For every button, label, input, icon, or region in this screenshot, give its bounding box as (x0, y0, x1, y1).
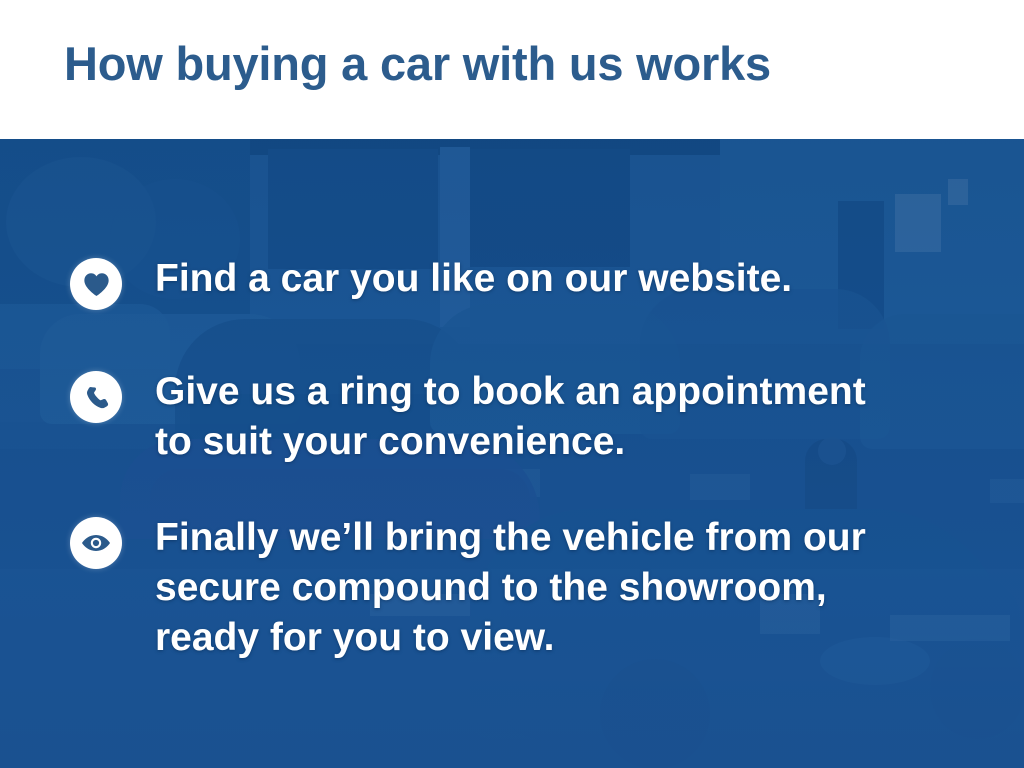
slide-root: Find a car you like on our website. Give… (0, 0, 1024, 768)
phone-icon (70, 371, 122, 423)
step-item-bring-vehicle: Finally we’ll bring the vehicle from our… (70, 513, 866, 663)
step-text: Give us a ring to book an appointment to… (155, 367, 866, 467)
background-photo-area: Find a car you like on our website. Give… (0, 139, 1024, 768)
eye-icon (70, 517, 122, 569)
step-item-give-us-a-ring: Give us a ring to book an appointment to… (70, 367, 866, 467)
step-text: Finally we’ll bring the vehicle from our… (155, 513, 866, 663)
steps-list: Find a car you like on our website. Give… (0, 139, 1024, 768)
heart-icon (70, 258, 122, 310)
page-title: How buying a car with us works (64, 36, 771, 91)
step-item-find-car: Find a car you like on our website. (70, 254, 792, 310)
header-band: How buying a car with us works (0, 0, 1024, 139)
step-text: Find a car you like on our website. (155, 254, 792, 304)
